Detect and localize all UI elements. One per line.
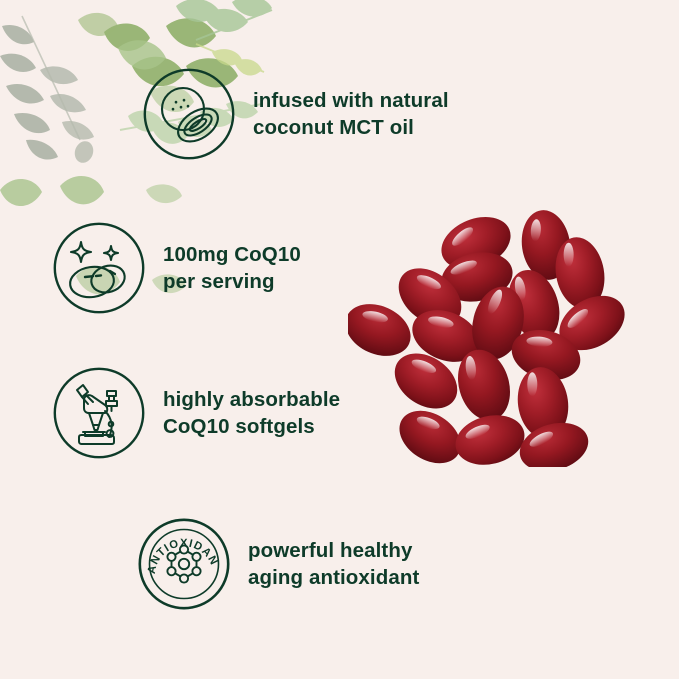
- feature-label: infused with natural coconut MCT oil: [253, 87, 449, 142]
- antioxidant-badge-icon: ANTIOXIDANT: [138, 518, 230, 610]
- infographic-canvas: infused with natural coconut MCT oil 100…: [0, 0, 679, 679]
- softgel-sparkle-icon: [53, 222, 145, 314]
- coconut-mct-icon: [143, 68, 235, 160]
- feature-label: highly absorbable CoQ10 softgels: [163, 386, 340, 441]
- feature-label: 100mg CoQ10 per serving: [163, 241, 301, 296]
- feature-item-dosage: 100mg CoQ10 per serving: [53, 222, 301, 314]
- feature-label: powerful healthy aging antioxidant: [248, 537, 419, 592]
- feature-item-coconut-mct: infused with natural coconut MCT oil: [143, 68, 449, 160]
- microscope-icon: [53, 367, 145, 459]
- feature-item-absorbable: highly absorbable CoQ10 softgels: [53, 367, 340, 459]
- feature-item-antioxidant: ANTIOXIDANT powerful healthy aging antio…: [138, 518, 419, 610]
- coq10-softgel-pile: [348, 205, 654, 467]
